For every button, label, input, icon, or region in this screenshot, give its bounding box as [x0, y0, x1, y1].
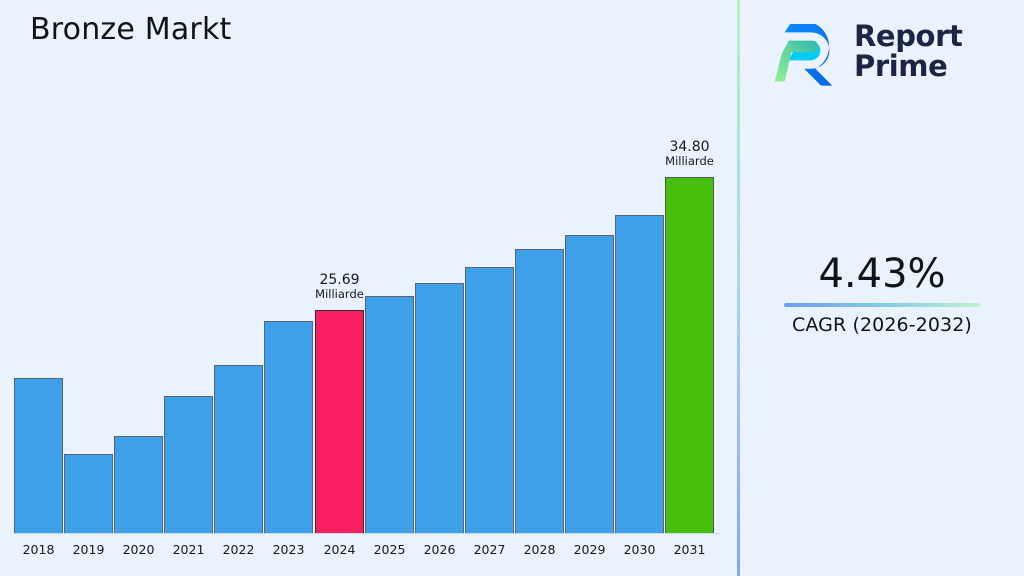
bar-2020[interactable] [114, 42, 163, 533]
bar-rect-2022[interactable] [214, 365, 263, 533]
bar-rect-2029[interactable] [565, 235, 614, 533]
info-panel: Report Prime 4.43% CAGR (2026-2032) [740, 0, 1024, 576]
bar-2030[interactable] [615, 42, 664, 533]
bar-2024[interactable]: 25.69Milliarde [315, 42, 364, 533]
cagr-divider-rule [784, 303, 980, 307]
bar-2022[interactable] [214, 42, 263, 533]
bar-2026[interactable] [415, 42, 464, 533]
x-tick-2027: 2027 [465, 542, 514, 557]
bar-2023[interactable] [264, 42, 313, 533]
x-tick-2025: 2025 [365, 542, 414, 557]
bar-rect-2021[interactable] [164, 396, 213, 533]
x-tick-2019: 2019 [64, 542, 113, 557]
bar-rect-2023[interactable] [264, 321, 313, 533]
x-tick-2026: 2026 [415, 542, 464, 557]
bar-unit-2024: Milliarde [315, 288, 364, 302]
brand-logo-line2: Prime [854, 52, 962, 82]
x-tick-2028: 2028 [515, 542, 564, 557]
cagr-value: 4.43% [740, 252, 1024, 297]
bar-rect-2019[interactable] [64, 454, 113, 533]
bar-unit-2031: Milliarde [665, 155, 714, 169]
bar-rect-2026[interactable] [415, 283, 464, 533]
cagr-block: 4.43% CAGR (2026-2032) [740, 252, 1024, 336]
x-tick-2031: 2031 [665, 542, 714, 557]
chart-baseline [14, 533, 720, 534]
chart-panel: Bronze Markt 25.69Milliarde34.80Milliard… [0, 0, 738, 576]
bar-2025[interactable] [365, 42, 414, 533]
bar-rect-2027[interactable] [465, 267, 514, 533]
x-tick-2022: 2022 [214, 542, 263, 557]
x-tick-2023: 2023 [264, 542, 313, 557]
bar-value-label-2024: 25.69Milliarde [315, 272, 364, 302]
bar-value-2024: 25.69 [315, 272, 364, 289]
bar-2029[interactable] [565, 42, 614, 533]
bar-2027[interactable] [465, 42, 514, 533]
bar-rect-2031[interactable] [665, 177, 714, 533]
bar-2031[interactable]: 34.80Milliarde [665, 42, 714, 533]
brand-logo-text: Report Prime [854, 22, 962, 81]
x-tick-2029: 2029 [565, 542, 614, 557]
report-prime-logo-icon [772, 17, 842, 87]
x-tick-2018: 2018 [14, 542, 63, 557]
brand-logo: Report Prime [772, 14, 1004, 90]
bar-2028[interactable] [515, 42, 564, 533]
bar-rect-2020[interactable] [114, 436, 163, 533]
x-tick-2021: 2021 [164, 542, 213, 557]
bar-2019[interactable] [64, 42, 113, 533]
cagr-caption: CAGR (2026-2032) [740, 314, 1024, 336]
x-tick-2024: 2024 [315, 542, 364, 557]
bar-value-label-2031: 34.80Milliarde [665, 139, 714, 169]
bar-rect-2024[interactable] [315, 310, 364, 533]
brand-logo-line1: Report [854, 22, 962, 52]
x-tick-2030: 2030 [615, 542, 664, 557]
x-tick-2020: 2020 [114, 542, 163, 557]
bar-rect-2030[interactable] [615, 215, 664, 533]
bar-2018[interactable] [14, 42, 63, 533]
bar-rect-2025[interactable] [365, 296, 414, 533]
bar-value-2031: 34.80 [665, 139, 714, 156]
bar-rect-2028[interactable] [515, 249, 564, 533]
bar-rect-2018[interactable] [14, 378, 63, 533]
bar-2021[interactable] [164, 42, 213, 533]
screenshot-root: Bronze Markt 25.69Milliarde34.80Milliard… [0, 0, 1024, 576]
